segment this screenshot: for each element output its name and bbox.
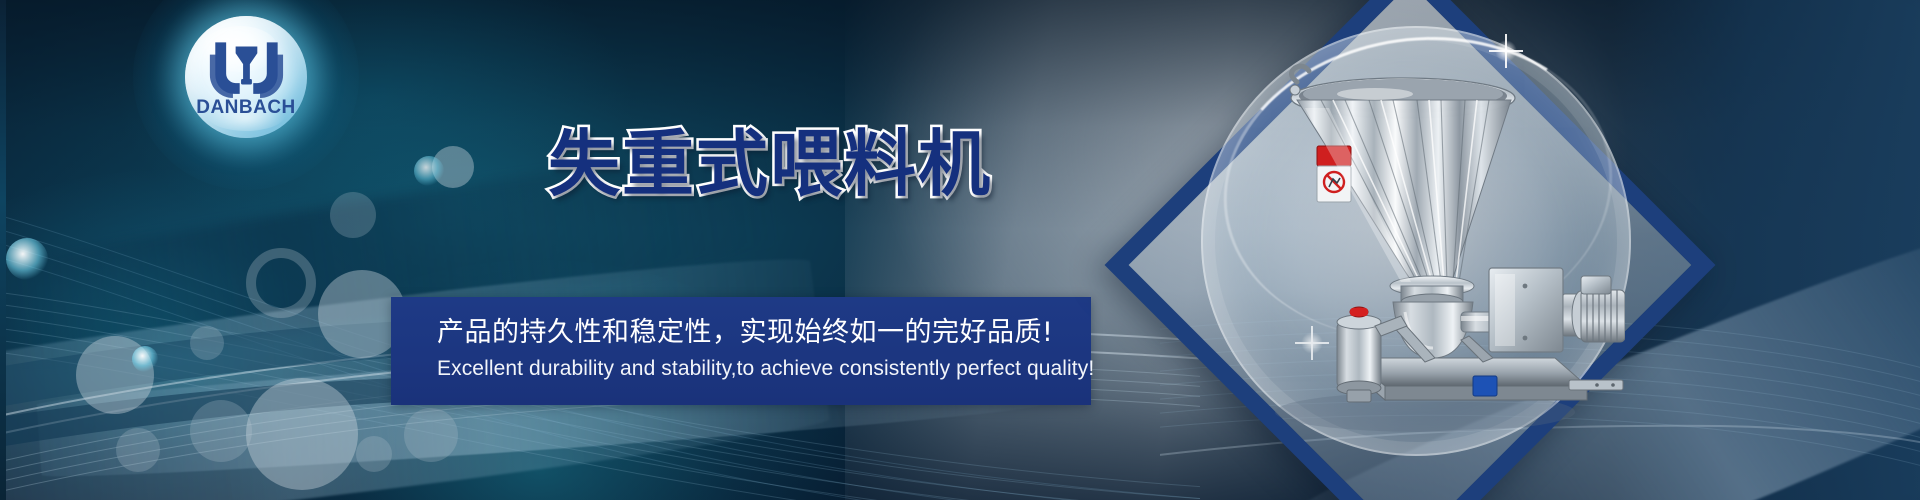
electric-motor — [1581, 276, 1625, 342]
blue-connector-block — [1473, 376, 1497, 396]
brand-logo[interactable]: DANBACH — [185, 16, 307, 138]
bokeh-ring — [246, 248, 316, 318]
bokeh-glow-dot — [132, 346, 158, 372]
bokeh-glow-dot — [414, 156, 444, 186]
bokeh-circle — [116, 428, 160, 472]
bokeh-circle — [404, 408, 458, 462]
product-image-feeder — [1225, 20, 1625, 470]
tagline-english: Excellent durability and stability,to ac… — [437, 357, 1094, 381]
bokeh-glow-dot — [6, 238, 48, 280]
danbach-mark-icon — [205, 37, 288, 98]
bokeh-circle — [356, 436, 392, 472]
promo-banner: DANBACH 失重式喂料机 产品的持久性和稳定性，实现始终如一的完好品质! E… — [0, 0, 1920, 500]
bokeh-circle — [330, 192, 376, 238]
tagline-chinese: 产品的持久性和稳定性，实现始终如一的完好品质! — [437, 310, 1053, 349]
brand-wordmark: DANBACH — [185, 97, 307, 119]
logo-sphere: DANBACH — [185, 16, 307, 138]
bokeh-circle — [190, 400, 252, 462]
bokeh-circle — [190, 326, 224, 360]
bokeh-circle — [246, 378, 358, 490]
tagline-box: 产品的持久性和稳定性，实现始终如一的完好品质! Excellent durabi… — [391, 297, 1091, 405]
product-showcase — [1105, 0, 1715, 500]
left-edge-accent — [0, 0, 6, 500]
page-title: 失重式喂料机 — [548, 128, 992, 200]
